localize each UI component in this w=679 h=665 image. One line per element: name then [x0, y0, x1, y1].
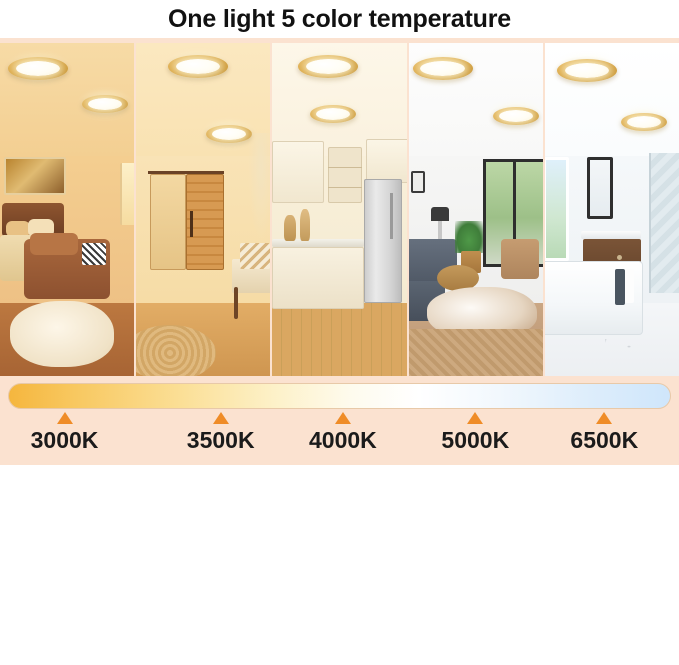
ceiling-lamp-icon: [298, 55, 358, 78]
room-panel-livingroom-5000k: [409, 43, 543, 376]
potted-plant: [455, 221, 483, 253]
tick-marker-3500k: [213, 412, 229, 424]
ceiling-lamp-icon: [82, 95, 128, 113]
tick-marker-3000k: [57, 412, 73, 424]
ceiling-lamp-icon: [8, 57, 68, 80]
color-temperature-band: 3000K 3500K 4000K 5000K 6500K: [0, 38, 679, 465]
scale-label-6500k: 6500K: [570, 427, 638, 454]
shelf-divider: [328, 167, 362, 168]
room-panel-bathroom-6500k: [545, 43, 679, 376]
ceiling-lamp-icon: [557, 59, 617, 82]
window: [120, 163, 134, 225]
shelf-divider: [328, 187, 362, 188]
throw-pillow: [82, 243, 106, 265]
gradient-fill: [8, 383, 671, 409]
product-infographic: One light 5 color temperature: [0, 0, 679, 665]
scale-label-5000k: 5000K: [441, 427, 509, 454]
area-rug: [10, 301, 114, 367]
doorway: [150, 174, 186, 270]
wall-art: [4, 157, 66, 195]
scale-tick-markers: [0, 412, 679, 426]
upper-cabinet: [272, 141, 324, 203]
room-panel-bedroom-3000k: [0, 43, 134, 376]
scale-label-3000k: 3000K: [31, 427, 99, 454]
bottom-section: Select your ideal color tempera­ture 650…: [0, 465, 679, 665]
vase: [300, 209, 310, 241]
room-photo-strip: [0, 43, 679, 376]
ceiling-lamp-icon: [413, 57, 473, 80]
door-handle: [190, 211, 193, 237]
window: [545, 157, 569, 261]
room-panel-kitchen-4000k: [272, 43, 406, 376]
color-temperature-gradient-bar: [8, 383, 671, 409]
tick-marker-4000k: [335, 412, 351, 424]
towel: [625, 269, 634, 303]
page-title: One light 5 color temperature: [168, 5, 511, 34]
room-panel-hallway-3500k: [136, 43, 270, 376]
ceiling-lamp-icon: [621, 113, 667, 131]
lower-cabinet: [272, 247, 364, 309]
scale-label-4000k: 4000K: [309, 427, 377, 454]
ceiling-lamp-icon: [493, 107, 539, 125]
scale-labels: 3000K 3500K 4000K 5000K 6500K: [0, 427, 679, 457]
tick-marker-5000k: [467, 412, 483, 424]
scale-label-3500k: 3500K: [187, 427, 255, 454]
refrigerator: [364, 179, 402, 303]
ceiling-lamp-icon: [168, 55, 228, 78]
shower-enclosure: [649, 153, 679, 293]
towel: [615, 269, 625, 305]
cabinet-knob: [617, 255, 622, 260]
vase: [284, 215, 296, 241]
throw-pillow: [240, 243, 270, 269]
table-lamp: [431, 207, 449, 221]
upper-cabinet: [366, 139, 406, 183]
marble-veining: [605, 339, 679, 376]
fridge-handle: [390, 193, 393, 239]
open-shelving: [328, 147, 362, 203]
dried-plant: [248, 133, 270, 241]
wall-art: [411, 171, 425, 193]
mirror: [587, 157, 613, 219]
armchair: [501, 239, 539, 279]
bench-leg: [234, 287, 238, 319]
vanity-counter: [581, 231, 641, 239]
jute-rug: [409, 329, 543, 376]
ceiling-lamp-icon: [206, 125, 252, 143]
tick-marker-6500k: [596, 412, 612, 424]
sofa-cushion: [30, 233, 78, 255]
title-bar: One light 5 color temperature: [0, 0, 679, 38]
